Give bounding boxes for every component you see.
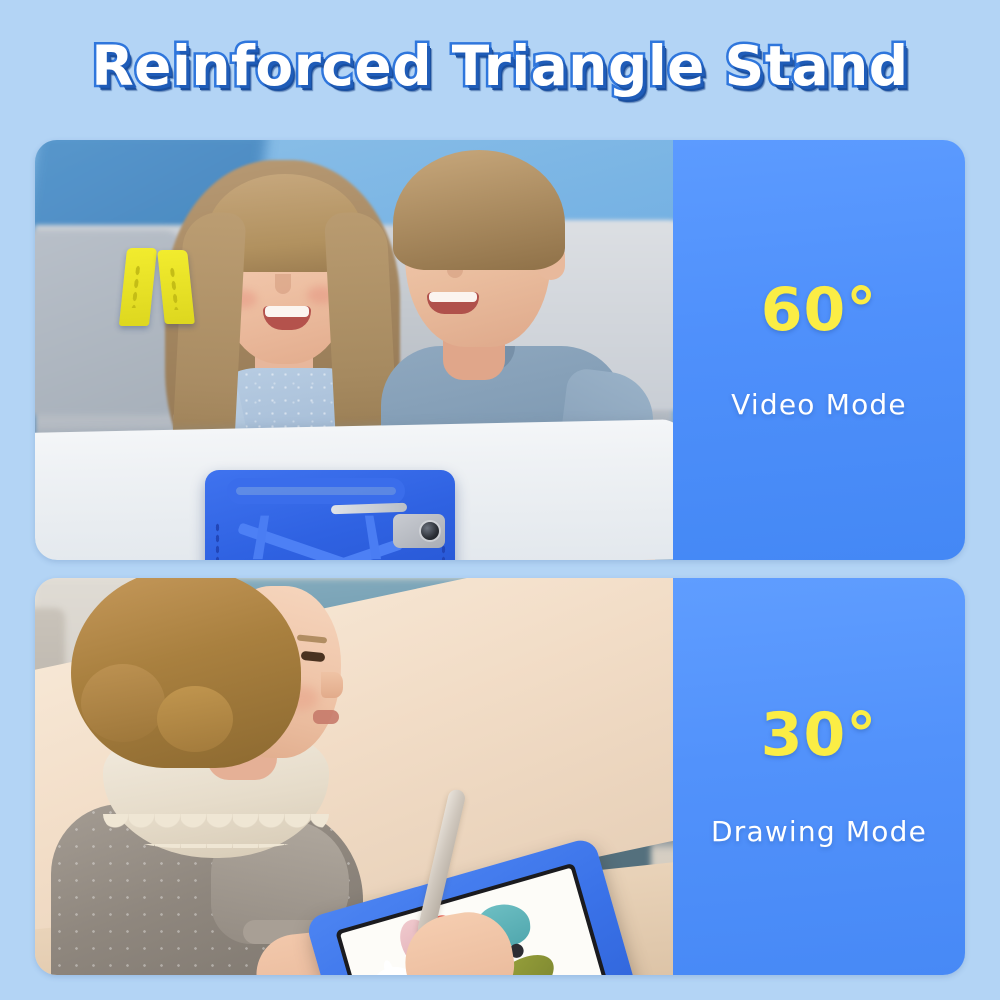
toddler-hair-curl-2 bbox=[157, 686, 233, 752]
info-panel-video-mode: 60° Video Mode bbox=[673, 140, 965, 560]
boy-hair bbox=[393, 150, 565, 270]
girl-nose bbox=[275, 274, 291, 294]
toddler-nose bbox=[321, 672, 343, 698]
page-title: Reinforced Triangle Stand bbox=[91, 34, 908, 98]
feature-card-video-mode: 60° Video Mode bbox=[35, 140, 965, 560]
angle-value-drawing: 30° bbox=[761, 705, 878, 765]
mode-label-video: Video Mode bbox=[731, 388, 907, 421]
angle-value-video: 60° bbox=[761, 280, 878, 340]
feature-card-drawing-mode: 30° Drawing Mode bbox=[35, 578, 965, 975]
case-vent-holes-left bbox=[215, 522, 220, 560]
camera-lens-icon bbox=[421, 522, 439, 540]
mode-label-drawing: Drawing Mode bbox=[711, 815, 927, 848]
case-rib-vertical bbox=[253, 516, 381, 560]
product-feature-page: Reinforced Triangle Stand bbox=[0, 0, 1000, 1000]
page-title-container: Reinforced Triangle Stand bbox=[0, 34, 1000, 98]
photo-drawing-mode bbox=[35, 578, 673, 975]
case-carry-handle bbox=[227, 478, 405, 504]
girl-teeth bbox=[265, 306, 309, 317]
toddler-lips bbox=[313, 710, 339, 724]
toddler-hair-curl-1 bbox=[81, 664, 165, 742]
tablet-case-video-mode bbox=[205, 470, 455, 560]
boy-teeth bbox=[429, 292, 477, 302]
boy-mouth bbox=[427, 292, 479, 314]
info-panel-drawing-mode: 30° Drawing Mode bbox=[673, 578, 965, 975]
photo-video-mode bbox=[35, 140, 673, 560]
